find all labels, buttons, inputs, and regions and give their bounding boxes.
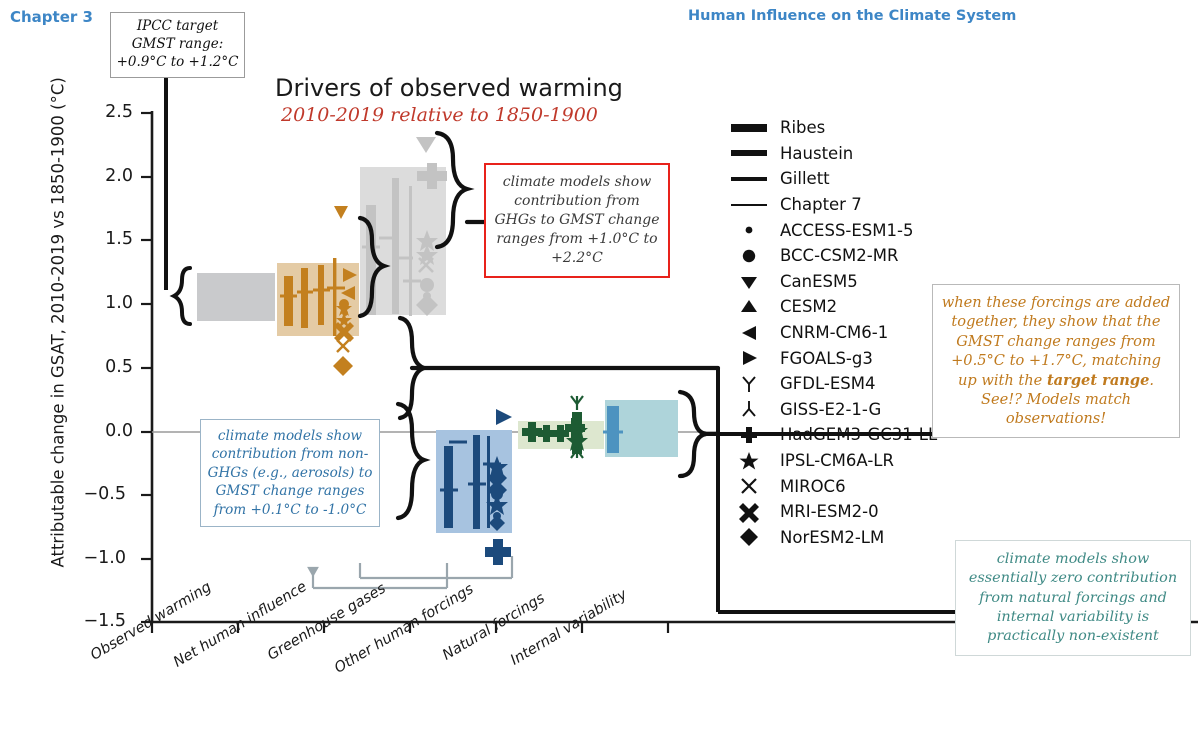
legend-label-ribes: Ribes (780, 118, 825, 137)
ytick-label-0-5: 0.5 (73, 357, 133, 377)
legend-label-access-esm1-5: ACCESS-ESM1-5 (780, 221, 913, 240)
annotation-ipcc-target-range: IPCC target GMST range: +0.9°C to +1.2°C (110, 12, 245, 78)
legend-label-miroc6: MIROC6 (780, 477, 846, 496)
ytick-label-neg-1-5: −1.5 (66, 611, 126, 631)
legend-item-gillett[interactable]: Gillett (718, 166, 937, 192)
legend-item-canesm5[interactable]: CanESM5 (718, 269, 937, 295)
ytick-label-0-0: 0.0 (73, 421, 133, 441)
tri-down-icon (718, 373, 780, 395)
marker-x-mark (337, 340, 349, 352)
connector-lines-nonghg (309, 556, 512, 588)
triangle-down-icon (718, 270, 780, 292)
brace-observed-warming (174, 268, 190, 324)
legend-label-noresm2-lm: NorESM2-LM (780, 528, 884, 547)
legend-item-gfdl-esm4[interactable]: GFDL-ESM4 (718, 371, 937, 397)
legend-label-cesm2: CESM2 (780, 297, 837, 316)
annotation-natural-forcings: climate models show essentially zero con… (955, 540, 1191, 656)
line-thin-icon (718, 204, 780, 206)
legend-label-chapter-7: Chapter 7 (780, 195, 862, 214)
marker-dot-large (420, 278, 434, 292)
triangle-left-icon (718, 322, 780, 344)
legend-item-ipsl-cm6a-lr[interactable]: IPSL-CM6A-LR (718, 448, 937, 474)
x-filled-icon (718, 501, 780, 523)
legend-label-mri-esm2-0: MRI-ESM2-0 (780, 502, 879, 521)
marker-diamond (333, 356, 353, 376)
legend-item-fgoals-g3[interactable]: FGOALS-g3 (718, 345, 937, 371)
ytick-label-1-5: 1.5 (73, 229, 133, 249)
legend-item-bcc-csm2-mr[interactable]: BCC-CSM2-MR (718, 243, 937, 269)
legend-label-bcc-csm2-mr: BCC-CSM2-MR (780, 246, 898, 265)
annotation-ghg-contribution: climate models show contribution from GH… (484, 163, 670, 278)
legend-label-ipsl-cm6a-lr: IPSL-CM6A-LR (780, 451, 894, 470)
legend-label-haustein: Haustein (780, 144, 853, 163)
bar-ribes-internal (607, 406, 619, 453)
legend-label-fgoals-g3: FGOALS-g3 (780, 349, 873, 368)
x-mark-icon (718, 475, 780, 497)
annotation-summation: when these forcings are added together, … (932, 284, 1180, 438)
brace-other-human-forcings (398, 404, 424, 518)
legend-label-cnrm-cm6-1: CNRM-CM6-1 (780, 323, 888, 342)
marker-plus-filled (485, 539, 511, 565)
marker-triangle-right (496, 409, 512, 425)
ytick-label-2-0: 2.0 (73, 166, 133, 186)
legend-item-miroc6[interactable]: MIROC6 (718, 473, 937, 499)
legend-label-hadgem3-gc31-ll: HadGEM3-GC31-LL (780, 425, 937, 444)
legend-label-canesm5: CanESM5 (780, 272, 858, 291)
marker-triangle-down (416, 137, 436, 153)
triangle-right-icon (718, 347, 780, 369)
star-icon (718, 450, 780, 472)
triangle-up-icon (718, 296, 780, 318)
legend-item-cnrm-cm6-1[interactable]: CNRM-CM6-1 (718, 320, 937, 346)
ytick-label-neg-1-0: −1.0 (66, 548, 126, 568)
marker-triangle-down (334, 206, 348, 219)
legend-label-gfdl-esm4: GFDL-ESM4 (780, 374, 875, 393)
ytick-label-1-0: 1.0 (73, 293, 133, 313)
diamond-icon (718, 526, 780, 548)
band-observed-warming (197, 273, 275, 321)
annotation-sum-bold: target range (1047, 372, 1149, 389)
marker-tri-down (571, 396, 583, 410)
ytick-label-2-5: 2.5 (73, 102, 133, 122)
plus-filled-icon (718, 424, 780, 446)
brace-internal-variability (680, 392, 706, 476)
legend-item-giss-e2-1-g[interactable]: GISS-E2-1-G (718, 397, 937, 423)
annotation-nonghg-contribution: climate models show contribution from no… (200, 419, 380, 527)
line-medium-thin-icon (718, 177, 780, 182)
dot-large-icon (718, 245, 780, 267)
legend-item-access-esm1-5[interactable]: ACCESS-ESM1-5 (718, 217, 937, 243)
legend-item-hadgem3-gc31-ll[interactable]: HadGEM3-GC31-LL (718, 422, 937, 448)
legend-item-cesm2[interactable]: CESM2 (718, 294, 937, 320)
line-thick-icon (718, 124, 780, 132)
y-axis-ticks (141, 113, 152, 622)
chart-legend: Ribes Haustein Gillett Chapter 7 ACCESS-… (718, 115, 937, 550)
legend-item-haustein[interactable]: Haustein (718, 141, 937, 167)
legend-item-noresm2-lm[interactable]: NorESM2-LM (718, 525, 937, 551)
legend-item-mri-esm2-0[interactable]: MRI-ESM2-0 (718, 499, 937, 525)
ytick-label-neg-0-5: −0.5 (66, 484, 126, 504)
legend-item-chapter-7[interactable]: Chapter 7 (718, 192, 937, 218)
legend-label-giss-e2-1-g: GISS-E2-1-G (780, 400, 881, 419)
legend-label-gillett: Gillett (780, 169, 830, 188)
legend-item-ribes[interactable]: Ribes (718, 115, 937, 141)
tri-up-icon (718, 398, 780, 420)
line-medium-icon (718, 150, 780, 156)
dot-small-icon (718, 219, 780, 241)
